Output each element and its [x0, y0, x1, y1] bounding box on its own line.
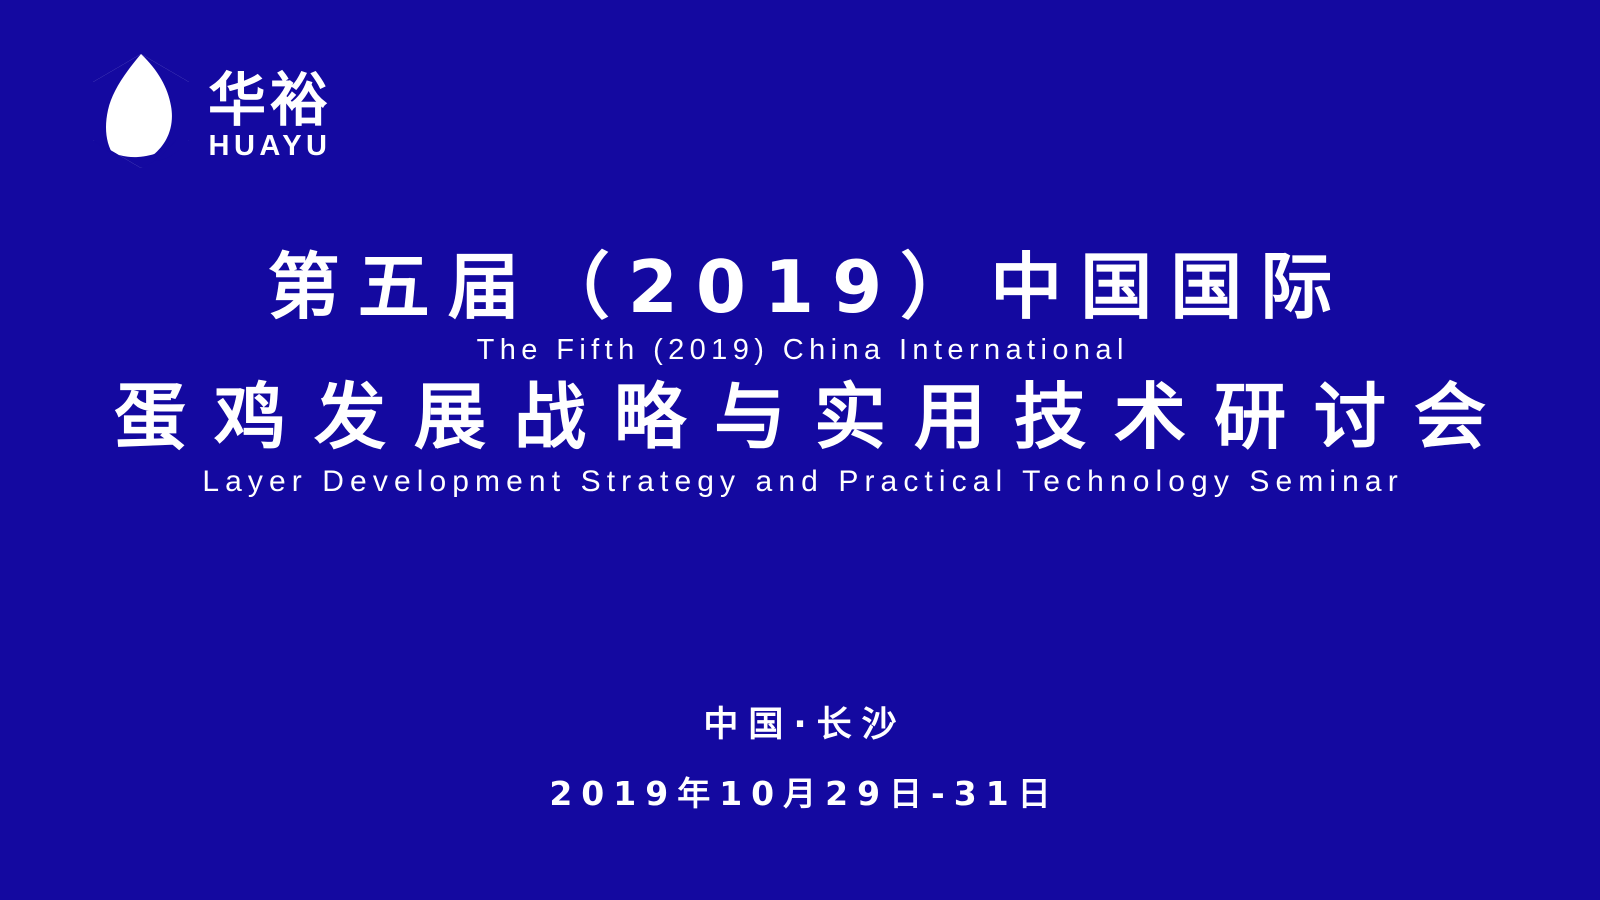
event-venue: 中国·长沙: [0, 704, 1600, 746]
conference-banner: 华裕 HUAYU 第五届（2019）中国国际 The Fifth (2019) …: [0, 0, 1600, 900]
title-line1-chinese: 第五届（2019）中国国际: [0, 246, 1600, 330]
event-details-block: 中国·长沙 2019年10月29日-31日: [0, 704, 1600, 814]
brand-wordmark: 华裕 HUAYU: [208, 59, 332, 163]
event-dates: 2019年10月29日-31日: [0, 774, 1600, 814]
title-line2-english: Layer Development Strategy and Practical…: [0, 463, 1600, 501]
title-line1-english: The Fifth (2019) China International: [0, 332, 1600, 368]
brand-logo-lockup: 华裕 HUAYU: [88, 52, 332, 170]
brand-name-chinese: 华裕: [208, 73, 332, 129]
huayu-hexagon-swirl-logo-icon: [88, 52, 194, 170]
brand-name-latin: HUAYU: [209, 131, 332, 163]
conference-title-block: 第五届（2019）中国国际 The Fifth (2019) China Int…: [0, 246, 1600, 501]
title-line2-chinese: 蛋鸡发展战略与实用技术研讨会: [0, 376, 1600, 460]
